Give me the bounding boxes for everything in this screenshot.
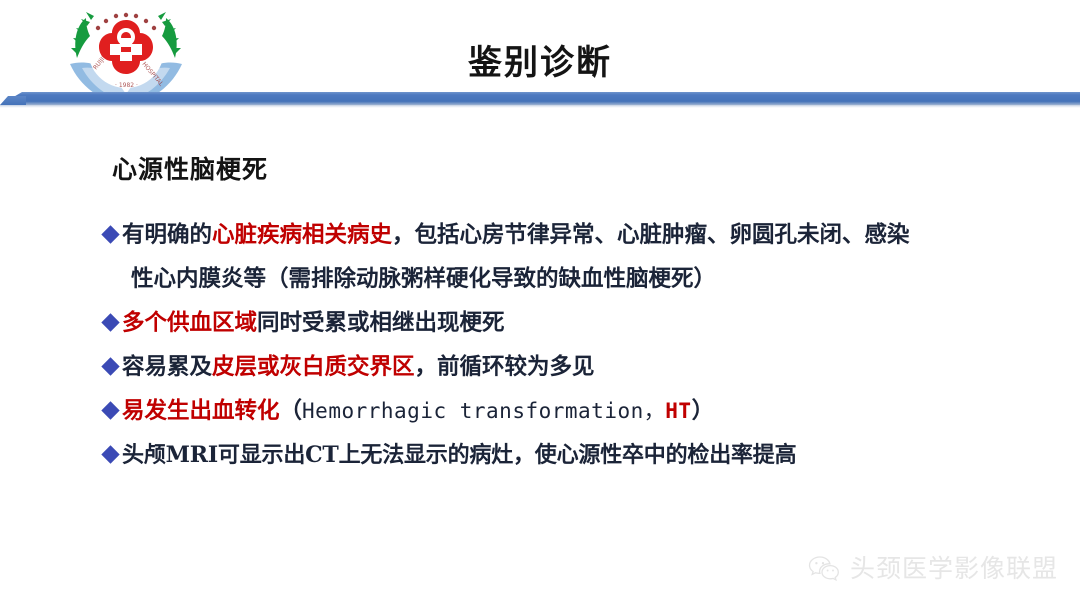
header-accent-bar-cap: [0, 96, 26, 105]
bullet-4-seg-2: （: [280, 398, 303, 424]
svg-text:· 1982 ·: · 1982 ·: [115, 82, 138, 89]
header-accent-bar: [0, 92, 1080, 105]
bullet-3-seg-1: 容易累及: [122, 354, 212, 380]
bullet-item-3: 容易累及皮层或灰白质交界区，前循环较为多见: [104, 345, 1024, 389]
bullet-4-seg-3-english: Hemorrhagic transformation，: [302, 399, 665, 423]
bullet-list: 有明确的心脏疾病相关病史，包括心房节律异常、心脏肿瘤、卵圆孔未闭、感染 性心内膜…: [104, 213, 1024, 478]
bullet-1-seg-2: 心脏疾病相关病史: [212, 222, 392, 248]
bullet-2-seg-2: 同时受累或相继出现梗死: [257, 310, 505, 336]
slide-canvas: RUIJIN HOSPITAL · 1982 ·: [0, 0, 1080, 608]
bullet-5-text: 头颅MRI可显示出CT上无法显示的病灶，使心源性卒中的检出率提高: [122, 442, 796, 468]
bullet-item-1: 有明确的心脏疾病相关病史，包括心房节律异常、心脏肿瘤、卵圆孔未闭、感染: [104, 213, 1024, 257]
bullet-1-seg-3: ，包括心房节律异常、心脏肿瘤、卵圆孔未闭、感染: [392, 222, 910, 248]
bullet-2-seg-1: 多个供血区域: [122, 310, 257, 336]
bullet-3-seg-3: ，前循环较为多见: [415, 354, 595, 380]
bullet-item-5: 头颅MRI可显示出CT上无法显示的病灶，使心源性卒中的检出率提高: [104, 433, 1024, 478]
bullet-item-1-line-2: 性心内膜炎等（需排除动脉粥样硬化导致的缺血性脑梗死）: [104, 257, 1024, 301]
bullet-1-line2-text: 性心内膜炎等（需排除动脉粥样硬化导致的缺血性脑梗死）: [104, 257, 1024, 301]
page-title: 鉴别诊断: [0, 46, 1080, 80]
bullet-4-seg-5: ）: [692, 398, 715, 424]
bullet-item-2: 多个供血区域同时受累或相继出现梗死: [104, 301, 1024, 345]
watermark: 头颈医学影像联盟: [808, 554, 1058, 583]
slide-body: 心源性脑梗死 有明确的心脏疾病相关病史，包括心房节律异常、心脏肿瘤、卵圆孔未闭、…: [0, 112, 1080, 608]
bullet-1-seg-1: 有明确的: [122, 222, 212, 248]
section-heading: 心源性脑梗死: [112, 157, 268, 182]
diamond-bullet-icon: [101, 445, 119, 463]
bullet-4-seg-1: 易发生出血转化: [122, 398, 280, 424]
diamond-bullet-icon: [101, 225, 119, 243]
diamond-bullet-icon: [101, 401, 119, 419]
header-accent-bar-shadow: [0, 105, 1080, 108]
bullet-3-seg-2: 皮层或灰白质交界区: [212, 354, 415, 380]
bullet-item-4: 易发生出血转化（Hemorrhagic transformation，HT）: [104, 389, 1024, 433]
diamond-bullet-icon: [101, 357, 119, 375]
bullet-4-seg-4-abbrev: HT: [665, 399, 691, 423]
wechat-icon: [808, 554, 841, 583]
diamond-bullet-icon: [101, 313, 119, 331]
watermark-label: 头颈医学影像联盟: [850, 556, 1058, 581]
slide-header: RUIJIN HOSPITAL · 1982 ·: [0, 0, 1080, 112]
